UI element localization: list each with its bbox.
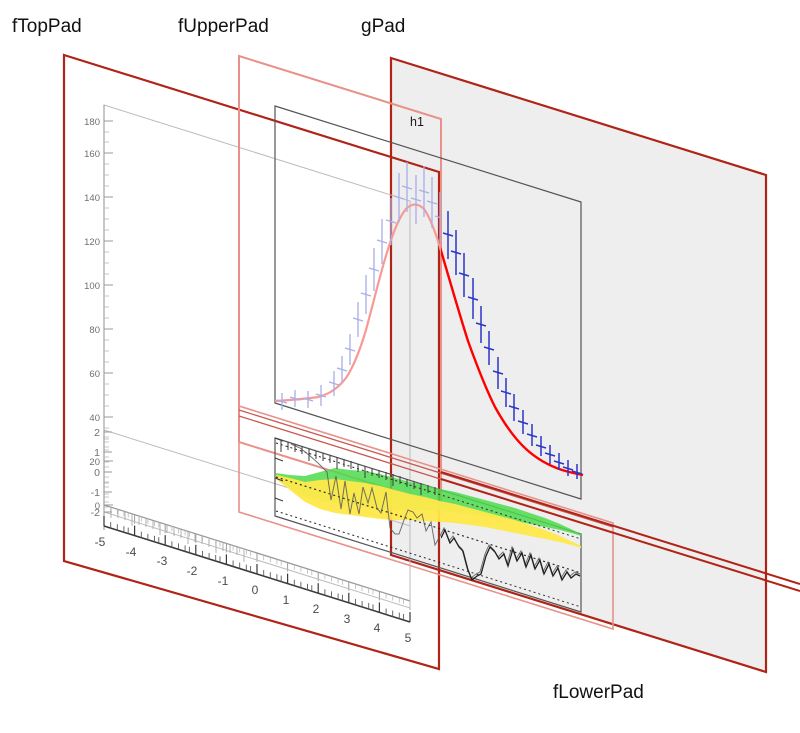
svg-text:2: 2 [94, 427, 100, 439]
svg-text:4: 4 [374, 621, 381, 635]
svg-text:180: 180 [84, 117, 100, 128]
pad-gpad[interactable] [391, 58, 766, 672]
label-gpad: gPad [361, 16, 405, 38]
gpad-sheet[interactable] [391, 58, 766, 672]
svg-text:140: 140 [84, 193, 100, 204]
svg-text:0: 0 [252, 583, 259, 597]
label-flowerpad: fLowerPad [553, 682, 644, 704]
svg-text:5: 5 [405, 631, 412, 645]
label-fupperpad: fUpperPad [178, 16, 269, 38]
svg-text:60: 60 [89, 369, 100, 380]
svg-text:-2: -2 [91, 507, 100, 519]
diagram-canvas: 0 20 40 60 80 100 120 140 160 180 [0, 0, 800, 733]
svg-text:2: 2 [313, 602, 320, 616]
pad-hierarchy-scene: 0 20 40 60 80 100 120 140 160 180 [0, 0, 800, 733]
svg-text:160: 160 [84, 149, 100, 160]
svg-text:-3: -3 [157, 554, 168, 568]
svg-text:40: 40 [89, 413, 100, 424]
svg-text:-1: -1 [91, 487, 100, 499]
svg-text:-2: -2 [187, 564, 198, 578]
svg-text:-5: -5 [95, 535, 106, 549]
svg-text:100: 100 [84, 281, 100, 292]
svg-text:0: 0 [94, 467, 100, 479]
ftoppad-axes-group: 0 20 40 60 80 100 120 140 160 180 [84, 105, 410, 610]
ftoppad-sheet[interactable] [64, 55, 439, 669]
lower-plot-yaxis [275, 438, 283, 501]
ftoppad-lower-yaxis: 2 1 0 -1 -2 [91, 427, 112, 530]
ftoppad-bottom-xaxis: -5 -4 -3 -2 -1 0 1 2 3 4 5 [95, 516, 412, 645]
svg-text:80: 80 [89, 325, 100, 336]
svg-text:-4: -4 [126, 545, 137, 559]
pad-ftoppad[interactable] [64, 55, 439, 669]
svg-text:120: 120 [84, 237, 100, 248]
svg-text:-1: -1 [218, 574, 229, 588]
histogram-title: h1 [410, 115, 424, 129]
label-ftoppad: fTopPad [12, 16, 82, 38]
svg-text:1: 1 [94, 447, 100, 459]
svg-text:3: 3 [344, 612, 351, 626]
svg-text:1: 1 [283, 593, 290, 607]
